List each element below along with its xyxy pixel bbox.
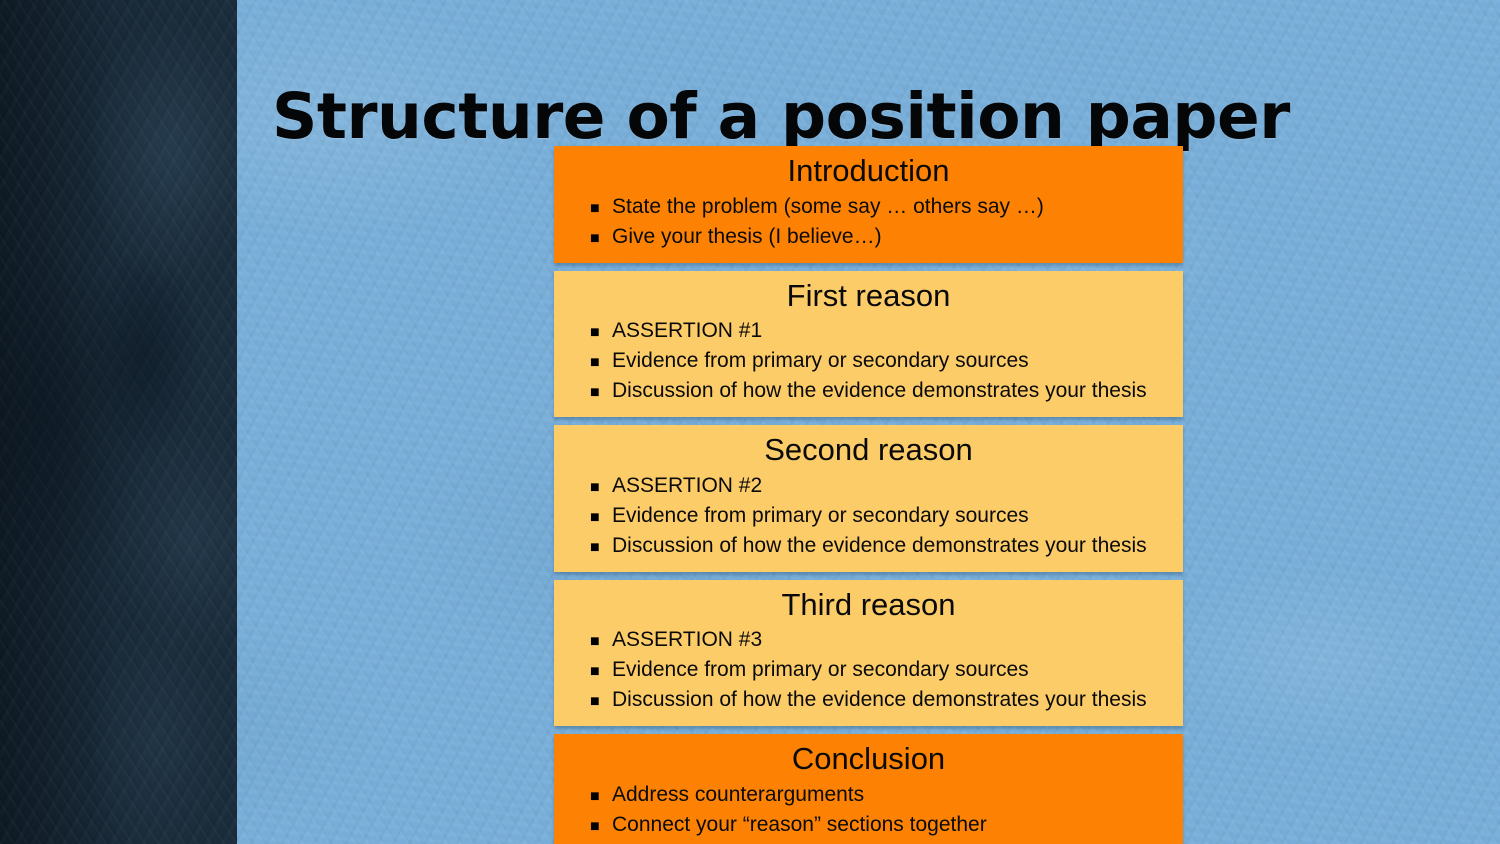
bullet-item: ■Evidence from primary or secondary sour…	[590, 502, 1171, 532]
square-bullet-icon: ■	[590, 379, 612, 407]
bullet-text: ASSERTION #3	[612, 626, 762, 654]
section-bullet-list: ■ASSERTION #3■Evidence from primary or s…	[554, 626, 1183, 716]
bullet-text: Evidence from primary or secondary sourc…	[612, 656, 1029, 684]
bullet-text: Discussion of how the evidence demonstra…	[612, 532, 1147, 560]
bullet-item: ■ASSERTION #1	[590, 317, 1171, 347]
square-bullet-icon: ■	[590, 628, 612, 656]
square-bullet-icon: ■	[590, 319, 612, 347]
square-bullet-icon: ■	[590, 474, 612, 502]
square-bullet-icon: ■	[590, 688, 612, 716]
bullet-text: Discussion of how the evidence demonstra…	[612, 377, 1147, 405]
square-bullet-icon: ■	[590, 195, 612, 223]
bullet-text: Address counterarguments	[612, 781, 864, 809]
bullet-text: ASSERTION #1	[612, 317, 762, 345]
bullet-item: ■Discussion of how the evidence demonstr…	[590, 686, 1171, 716]
bullet-item: ■Address counterarguments	[590, 781, 1171, 811]
bullet-item: ■Connect your “reason” sections together	[590, 811, 1171, 841]
bullet-text: State the problem (some say … others say…	[612, 193, 1044, 221]
bullet-text: Evidence from primary or secondary sourc…	[612, 347, 1029, 375]
square-bullet-icon: ■	[590, 783, 612, 811]
bullet-item: ■ASSERTION #3	[590, 626, 1171, 656]
bullet-item: ■State the problem (some say … others sa…	[590, 193, 1171, 223]
bullet-text: ASSERTION #2	[612, 472, 762, 500]
bullet-item: ■Evidence from primary or secondary sour…	[590, 656, 1171, 686]
bullet-text: Discussion of how the evidence demonstra…	[612, 686, 1147, 714]
bullet-item: ■Discussion of how the evidence demonstr…	[590, 377, 1171, 407]
section-bullet-list: ■ASSERTION #2■Evidence from primary or s…	[554, 472, 1183, 562]
slide-title: Structure of a position paper	[272, 84, 1272, 150]
square-bullet-icon: ■	[590, 658, 612, 686]
section-bullet-list: ■Address counterarguments■Connect your “…	[554, 781, 1183, 844]
section-heading: Conclusion	[554, 741, 1183, 778]
square-bullet-icon: ■	[590, 225, 612, 253]
section-box: Second reason■ASSERTION #2■Evidence from…	[554, 425, 1183, 572]
square-bullet-icon: ■	[590, 534, 612, 562]
square-bullet-icon: ■	[590, 813, 612, 841]
bullet-text: Evidence from primary or secondary sourc…	[612, 502, 1029, 530]
section-bullet-list: ■State the problem (some say … others sa…	[554, 193, 1183, 253]
bullet-text: Give your thesis (I believe…)	[612, 223, 882, 251]
bullet-text: Connect your “reason” sections together	[612, 811, 987, 839]
square-bullet-icon: ■	[590, 504, 612, 532]
section-box: First reason■ASSERTION #1■Evidence from …	[554, 271, 1183, 418]
section-heading: Third reason	[554, 587, 1183, 624]
section-box: Conclusion■Address counterarguments■Conn…	[554, 734, 1183, 844]
section-heading: Second reason	[554, 432, 1183, 469]
section-heading: First reason	[554, 278, 1183, 315]
section-bullet-list: ■ASSERTION #1■Evidence from primary or s…	[554, 317, 1183, 407]
section-box: Introduction■State the problem (some say…	[554, 146, 1183, 263]
bullet-item: ■Give your thesis (I believe…)	[590, 223, 1171, 253]
slide-left-accent-panel	[0, 0, 237, 844]
bullet-item: ■Evidence from primary or secondary sour…	[590, 347, 1171, 377]
presentation-slide: Structure of a position paper Introducti…	[0, 0, 1500, 844]
section-heading: Introduction	[554, 153, 1183, 190]
section-box-list: Introduction■State the problem (some say…	[554, 146, 1183, 844]
section-box: Third reason■ASSERTION #3■Evidence from …	[554, 580, 1183, 727]
bullet-item: ■ASSERTION #2	[590, 472, 1171, 502]
bullet-item: ■Discussion of how the evidence demonstr…	[590, 532, 1171, 562]
square-bullet-icon: ■	[590, 349, 612, 377]
